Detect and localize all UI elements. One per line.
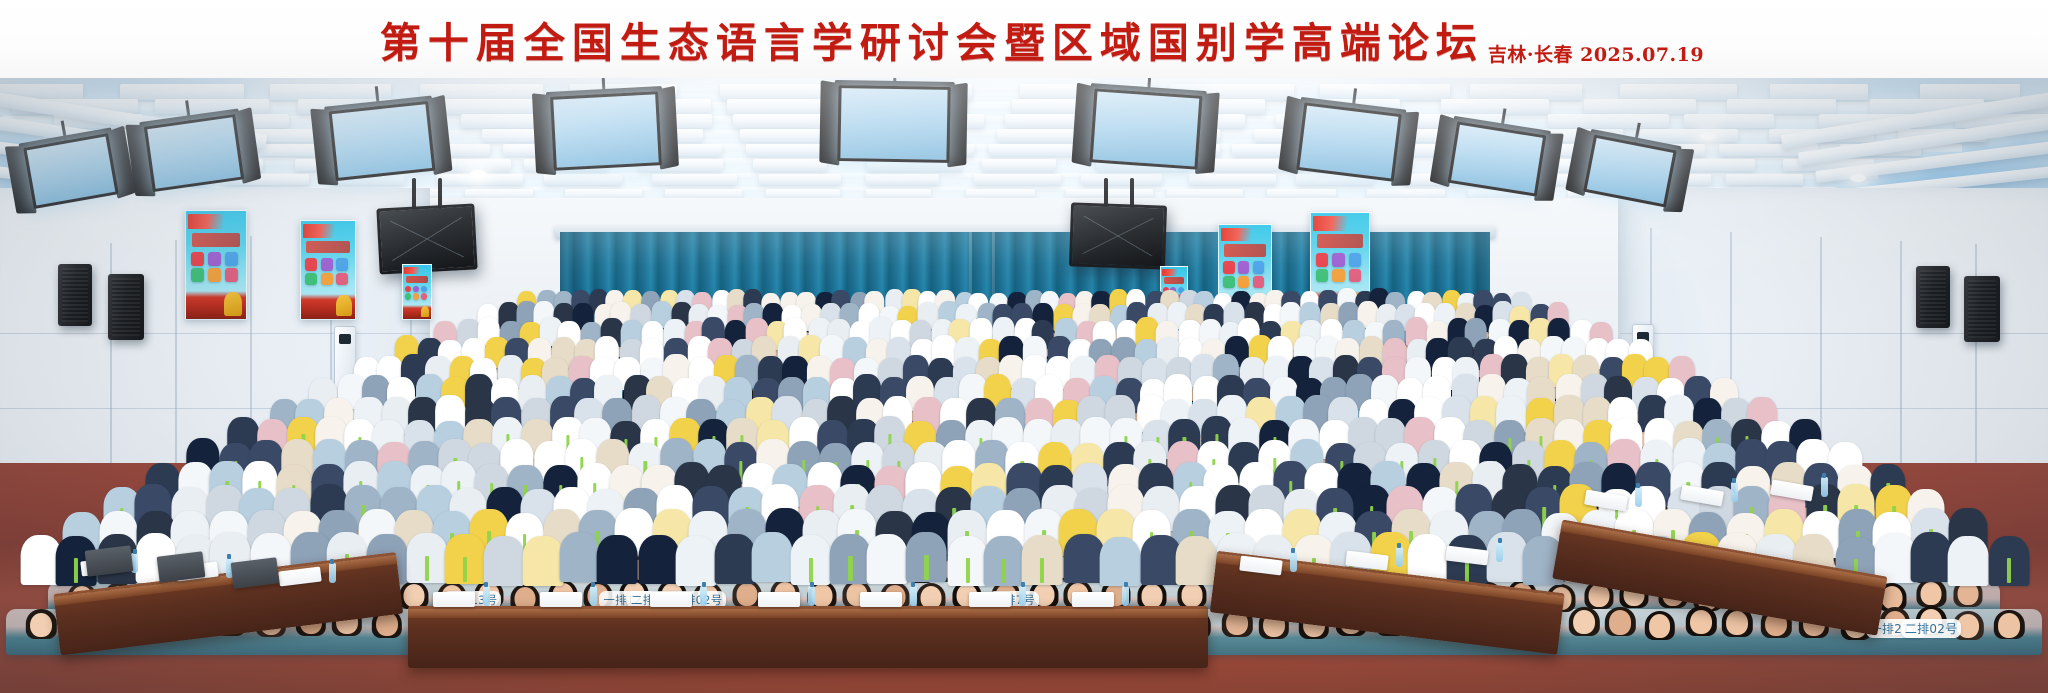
desk-name-plate [969,592,1011,607]
poster-flag-graphic [188,214,223,229]
light-panel [1090,88,1203,169]
person-torso [715,534,756,584]
person-torso [1100,537,1141,587]
desk-name-plate [540,592,582,607]
poster-title-graphic [306,241,349,254]
ceiling-slat [1189,174,1276,185]
attendee-lanyard [1002,559,1006,584]
poster-flag-graphic [1221,228,1251,241]
conference-group-photograph: 一排10号一排13号二排04号一排21号一排11号一排11号二排04号二排04号… [0,78,2048,693]
person-face [1573,610,1595,634]
water-bottle [808,586,815,606]
laptop-computer [157,551,206,582]
water-bottle [1496,542,1503,562]
water-bottle [1290,552,1297,572]
person-torso [867,534,908,584]
ceiling-slat [1684,114,1774,128]
ceiling-slat [1320,84,1450,100]
attendee-lanyard [2007,558,2011,583]
ceiling-slat [1726,174,1803,185]
studio-light-fixture [144,114,244,192]
event-banner: 第十届全国生态语言学研讨会暨区域国别学高端论坛 吉林·长春 2025.07.19 [0,0,2048,78]
water-bottle [1821,477,1828,497]
water-bottle [483,586,490,606]
attendee-lanyard [965,558,969,583]
event-location-date: 吉林·长春 2025.07.19 [1488,40,1704,67]
event-title: 第十届全国生态语言学研讨会暨区域国别学高端论坛 [380,9,1484,69]
person-face [1141,584,1162,607]
poster-title-graphic [1317,234,1363,248]
attendee-lanyard [425,556,429,581]
ceiling-slat [753,159,828,171]
person-face [1181,583,1202,606]
desk-name-plate [758,592,800,607]
studio-light-fixture [1090,88,1203,169]
studio-light-fixture [329,101,436,181]
water-bottle [590,586,597,606]
person-torso [559,532,600,582]
water-bottle [700,586,707,606]
ceiling-slat [759,174,841,185]
light-panel [550,91,662,171]
person-torso [1064,534,1105,584]
person-torso [1948,536,1989,586]
person-torso [639,535,680,585]
person-face [1609,610,1631,634]
screenshot-root: 第十届全国生态语言学研讨会暨区域国别学高端论坛 吉林·长春 2025.07.19… [0,0,2048,693]
ceiling-slat [982,159,1057,171]
light-panel [837,85,950,163]
ceiling-slat [720,84,827,100]
attendee-lanyard [924,555,928,580]
ceiling-slat [544,174,622,185]
poster-flag-graphic [1313,216,1347,231]
person-torso [484,536,525,586]
recessed-downlight [470,170,486,178]
ceiling-slat [1770,84,1868,100]
ceiling-slat [1584,99,1696,114]
ceiling-slat [866,174,938,185]
light-panel [329,101,436,181]
water-bottle [910,586,917,606]
person-torso [597,535,638,585]
water-bottle [1731,482,1738,502]
person-face [404,584,425,607]
studio-light-fixture [837,85,950,163]
attendee-lanyard [1040,558,1044,583]
ceiling-slat [1548,114,1669,128]
poster-title-graphic [1224,244,1266,256]
display-mount-bracket [390,217,464,261]
person-torso [1911,532,1952,582]
person-face [737,583,758,606]
attendee-lanyard [463,557,467,582]
ceiling-slat [733,114,830,128]
person-torso [751,532,792,582]
attendee-lanyard [809,558,813,583]
water-bottle [1019,586,1026,606]
water-bottle [1635,487,1642,507]
ceiling-slat [1620,84,1737,100]
laptop-computer [231,557,280,588]
person-face [1726,611,1748,635]
ceiling-slat [974,174,1061,185]
front-desk-center [408,606,1208,668]
ceiling-slat [441,99,546,114]
poster-title-graphic [192,233,240,247]
water-bottle [1122,586,1129,606]
recessed-downlight [1700,132,1716,140]
person-face [30,613,52,637]
display-mount-bracket [1082,216,1153,256]
person-torso [676,536,717,586]
desk-name-plate [860,592,902,607]
ceiling-slat [989,144,1077,156]
poster-flag-graphic [303,224,334,238]
person-torso [1176,536,1217,586]
ceiling-slat [1727,99,1836,114]
laptop-computer [85,545,134,576]
seat-number-label: 二排02号 [1901,619,1962,638]
person-torso [1487,532,1528,582]
desk-name-plate [1072,592,1114,607]
ceiling-slat [652,174,737,185]
water-bottle [329,563,336,583]
ceiling-slat [1920,84,2020,100]
ceiling-slat [120,84,244,100]
light-panel [1296,102,1402,181]
studio-light-fixture [550,91,662,171]
desk-name-plate [433,592,475,607]
desk-name-plate [650,592,692,607]
person-torso [523,536,564,586]
light-panel [144,114,244,192]
ceiling-slat [1470,84,1582,100]
ceiling-slat [1441,99,1549,114]
person-face [1998,613,2020,637]
ceiling-slat [1081,174,1161,185]
recessed-downlight [1850,174,1866,182]
water-bottle [1396,547,1403,567]
display-mount-arm [412,178,416,210]
studio-light-fixture [1296,102,1402,181]
person-face [1690,610,1712,634]
person-face [1649,614,1671,638]
attendee-lanyard [848,556,852,581]
desk-surface [408,609,1208,618]
person-face [1921,582,1942,605]
attendee-lanyard [74,558,78,583]
ceiling-slat [270,84,391,100]
